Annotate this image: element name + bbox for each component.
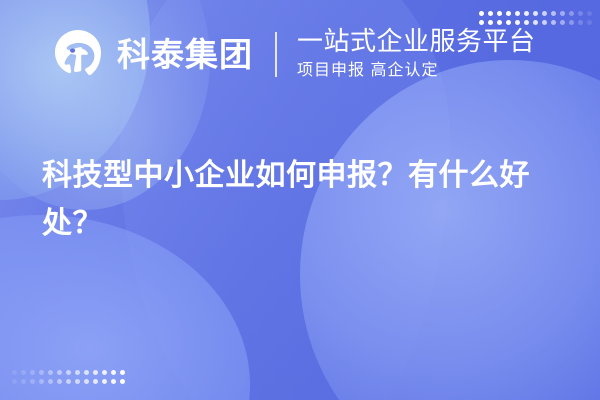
dot-grid-bottom-left (12, 370, 125, 384)
decorative-dot (66, 379, 71, 384)
dot-row (12, 379, 125, 384)
header-divider (275, 32, 277, 77)
decorative-dot (57, 370, 62, 375)
decorative-dot (39, 379, 44, 384)
header-tagline: 一站式企业服务平台 项目申报 高企认定 (297, 27, 536, 80)
decorative-dot (21, 370, 26, 375)
decorative-dot (120, 379, 125, 384)
brand-lockup[interactable]: 科泰集团 (52, 28, 253, 80)
decorative-dot (12, 370, 17, 375)
decorative-dot (48, 370, 53, 375)
banner-header: 科泰集团 一站式企业服务平台 项目申报 高企认定 (0, 0, 600, 108)
decorative-dot (93, 379, 98, 384)
decorative-dot (120, 370, 125, 375)
brand-name: 科泰集团 (117, 38, 253, 71)
decorative-dot (93, 370, 98, 375)
tagline-secondary: 项目申报 高企认定 (297, 61, 536, 81)
decorative-dot (66, 370, 71, 375)
decorative-dot (12, 379, 17, 384)
decorative-dot (84, 370, 89, 375)
decorative-dot (75, 379, 80, 384)
decorative-dot (57, 379, 62, 384)
tagline-primary: 一站式企业服务平台 (297, 27, 536, 55)
dot-row (12, 370, 125, 375)
decorative-dot (21, 379, 26, 384)
decorative-dot (102, 370, 107, 375)
decorative-dot (111, 379, 116, 384)
decorative-dot (111, 370, 116, 375)
article-title: 科技型中小企业如何申报？有什么好处？ (42, 152, 562, 248)
decorative-dot (75, 370, 80, 375)
decorative-dot (30, 379, 35, 384)
ketai-logo-icon (52, 28, 104, 80)
decorative-dot (84, 379, 89, 384)
decorative-dot (30, 370, 35, 375)
article-cover-banner: 科泰集团 一站式企业服务平台 项目申报 高企认定 科技型中小企业如何申报？有什么… (0, 0, 600, 400)
decorative-dot (102, 379, 107, 384)
decorative-dot (48, 379, 53, 384)
decorative-dot (39, 370, 44, 375)
